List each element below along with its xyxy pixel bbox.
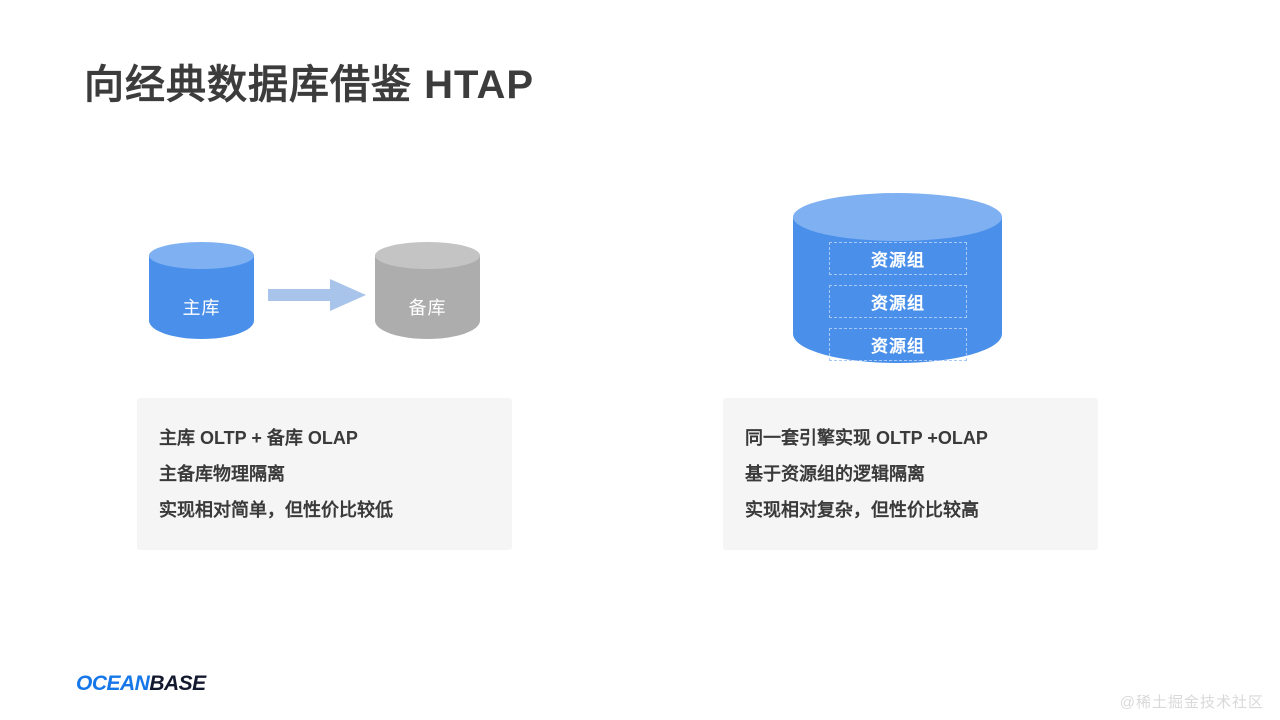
slide-canvas: 向经典数据库借鉴 HTAP 主库 备库 资源组 资源组	[0, 0, 1280, 720]
logo-text-base: BASE	[149, 672, 205, 695]
panel-line: 主库 OLTP + 备库 OLAP	[159, 420, 512, 456]
panel-line: 基于资源组的逻辑隔离	[745, 456, 1098, 492]
panel-line: 实现相对简单，但性价比较低	[159, 492, 512, 528]
resource-group-label: 资源组	[871, 246, 925, 271]
primary-db-label: 主库	[149, 294, 254, 320]
oceanbase-logo: OCEANBASE	[76, 672, 206, 696]
cylinder-top	[149, 242, 254, 269]
watermark-text: @稀土掘金技术社区	[1120, 691, 1264, 712]
standby-db-cylinder: 备库	[375, 242, 480, 339]
unified-engine-cylinder: 资源组 资源组 资源组	[793, 193, 1002, 363]
cylinder-top	[375, 242, 480, 269]
panel-line: 主备库物理隔离	[159, 456, 512, 492]
resource-group-box: 资源组	[829, 328, 967, 361]
resource-group-box: 资源组	[829, 285, 967, 318]
standby-db-label: 备库	[375, 294, 480, 320]
panel-line: 同一套引擎实现 OLTP +OLAP	[745, 420, 1098, 456]
page-title: 向经典数据库借鉴 HTAP	[84, 52, 534, 110]
logo-text-ocean: OCEAN	[76, 672, 149, 695]
left-description-panel: 主库 OLTP + 备库 OLAP 主备库物理隔离 实现相对简单，但性价比较低	[137, 398, 512, 550]
right-description-panel: 同一套引擎实现 OLTP +OLAP 基于资源组的逻辑隔离 实现相对复杂，但性价…	[723, 398, 1098, 550]
primary-db-cylinder: 主库	[149, 242, 254, 339]
arrow-right-icon	[268, 278, 366, 312]
cylinder-top	[793, 193, 1002, 241]
panel-line: 实现相对复杂，但性价比较高	[745, 492, 1098, 528]
resource-group-label: 资源组	[871, 289, 925, 314]
resource-group-box: 资源组	[829, 242, 967, 275]
resource-group-label: 资源组	[871, 332, 925, 357]
resource-group-stack: 资源组 资源组 资源组	[829, 242, 967, 361]
